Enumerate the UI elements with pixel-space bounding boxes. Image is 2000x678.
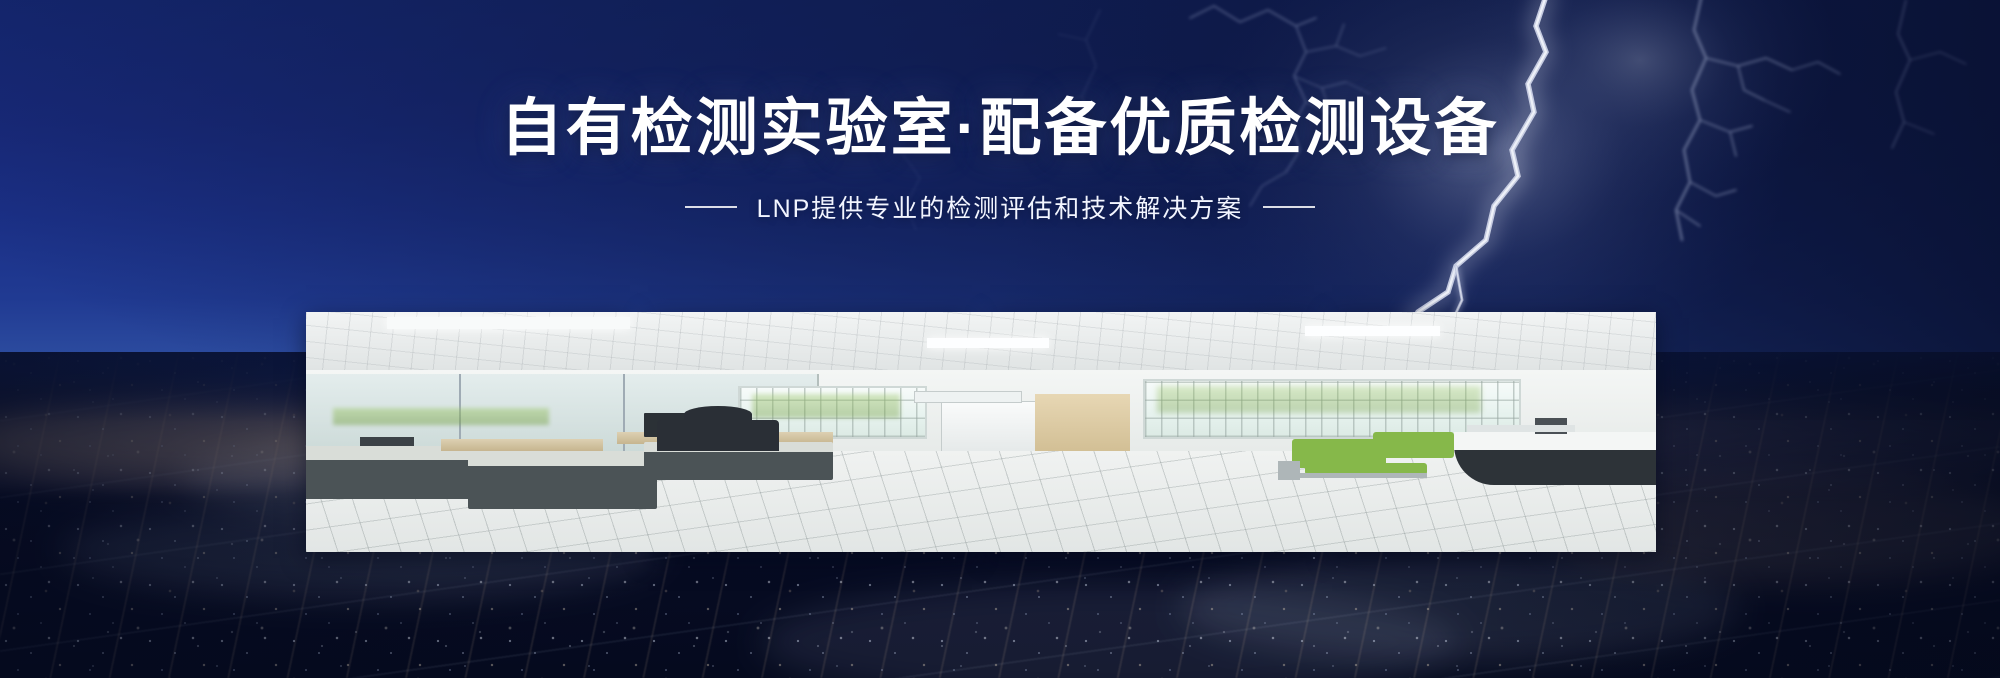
dash-right-decoration bbox=[1263, 206, 1315, 208]
desk-equipment bbox=[360, 437, 414, 447]
photo-gallery: 广东雷宁普电气检测技术有限公司 Guangdong Lighting Prote… bbox=[306, 312, 1656, 552]
ceiling-light-panel bbox=[927, 338, 1049, 348]
dash-left-decoration bbox=[685, 206, 737, 208]
hero-banner: 自有检测实验室·配备优质检测设备 LNP提供专业的检测评估和技术解决方案 bbox=[0, 0, 2000, 678]
foliage-outside-window bbox=[1157, 386, 1481, 412]
ceiling-vent bbox=[1305, 326, 1440, 336]
banner-headline: 自有检测实验室·配备优质检测设备 bbox=[0, 96, 2000, 163]
counter-top-items bbox=[1467, 425, 1575, 432]
banner-copy-block: 自有检测实验室·配备优质检测设备 LNP提供专业的检测评估和技术解决方案 bbox=[0, 96, 2000, 225]
banner-subtitle-row: LNP提供专业的检测评估和技术解决方案 bbox=[0, 189, 2000, 225]
ceiling-vent bbox=[387, 317, 630, 329]
chair-leg bbox=[1278, 461, 1300, 480]
office-workspace-photo bbox=[306, 312, 1656, 552]
banner-subtitle: LNP提供专业的检测评估和技术解决方案 bbox=[757, 189, 1244, 225]
foliage-outside-window bbox=[752, 394, 901, 418]
chair-base-rail bbox=[1292, 473, 1427, 478]
visitor-chair-back bbox=[1373, 432, 1454, 458]
gallery-item-office-workspace[interactable] bbox=[1332, 312, 1656, 552]
reception-counter bbox=[1454, 432, 1657, 485]
foliage-through-glass bbox=[333, 408, 549, 425]
work-desk bbox=[468, 451, 657, 509]
desk-top bbox=[441, 439, 603, 451]
employee-body bbox=[657, 420, 779, 451]
wall-ac-unit bbox=[914, 391, 1022, 403]
